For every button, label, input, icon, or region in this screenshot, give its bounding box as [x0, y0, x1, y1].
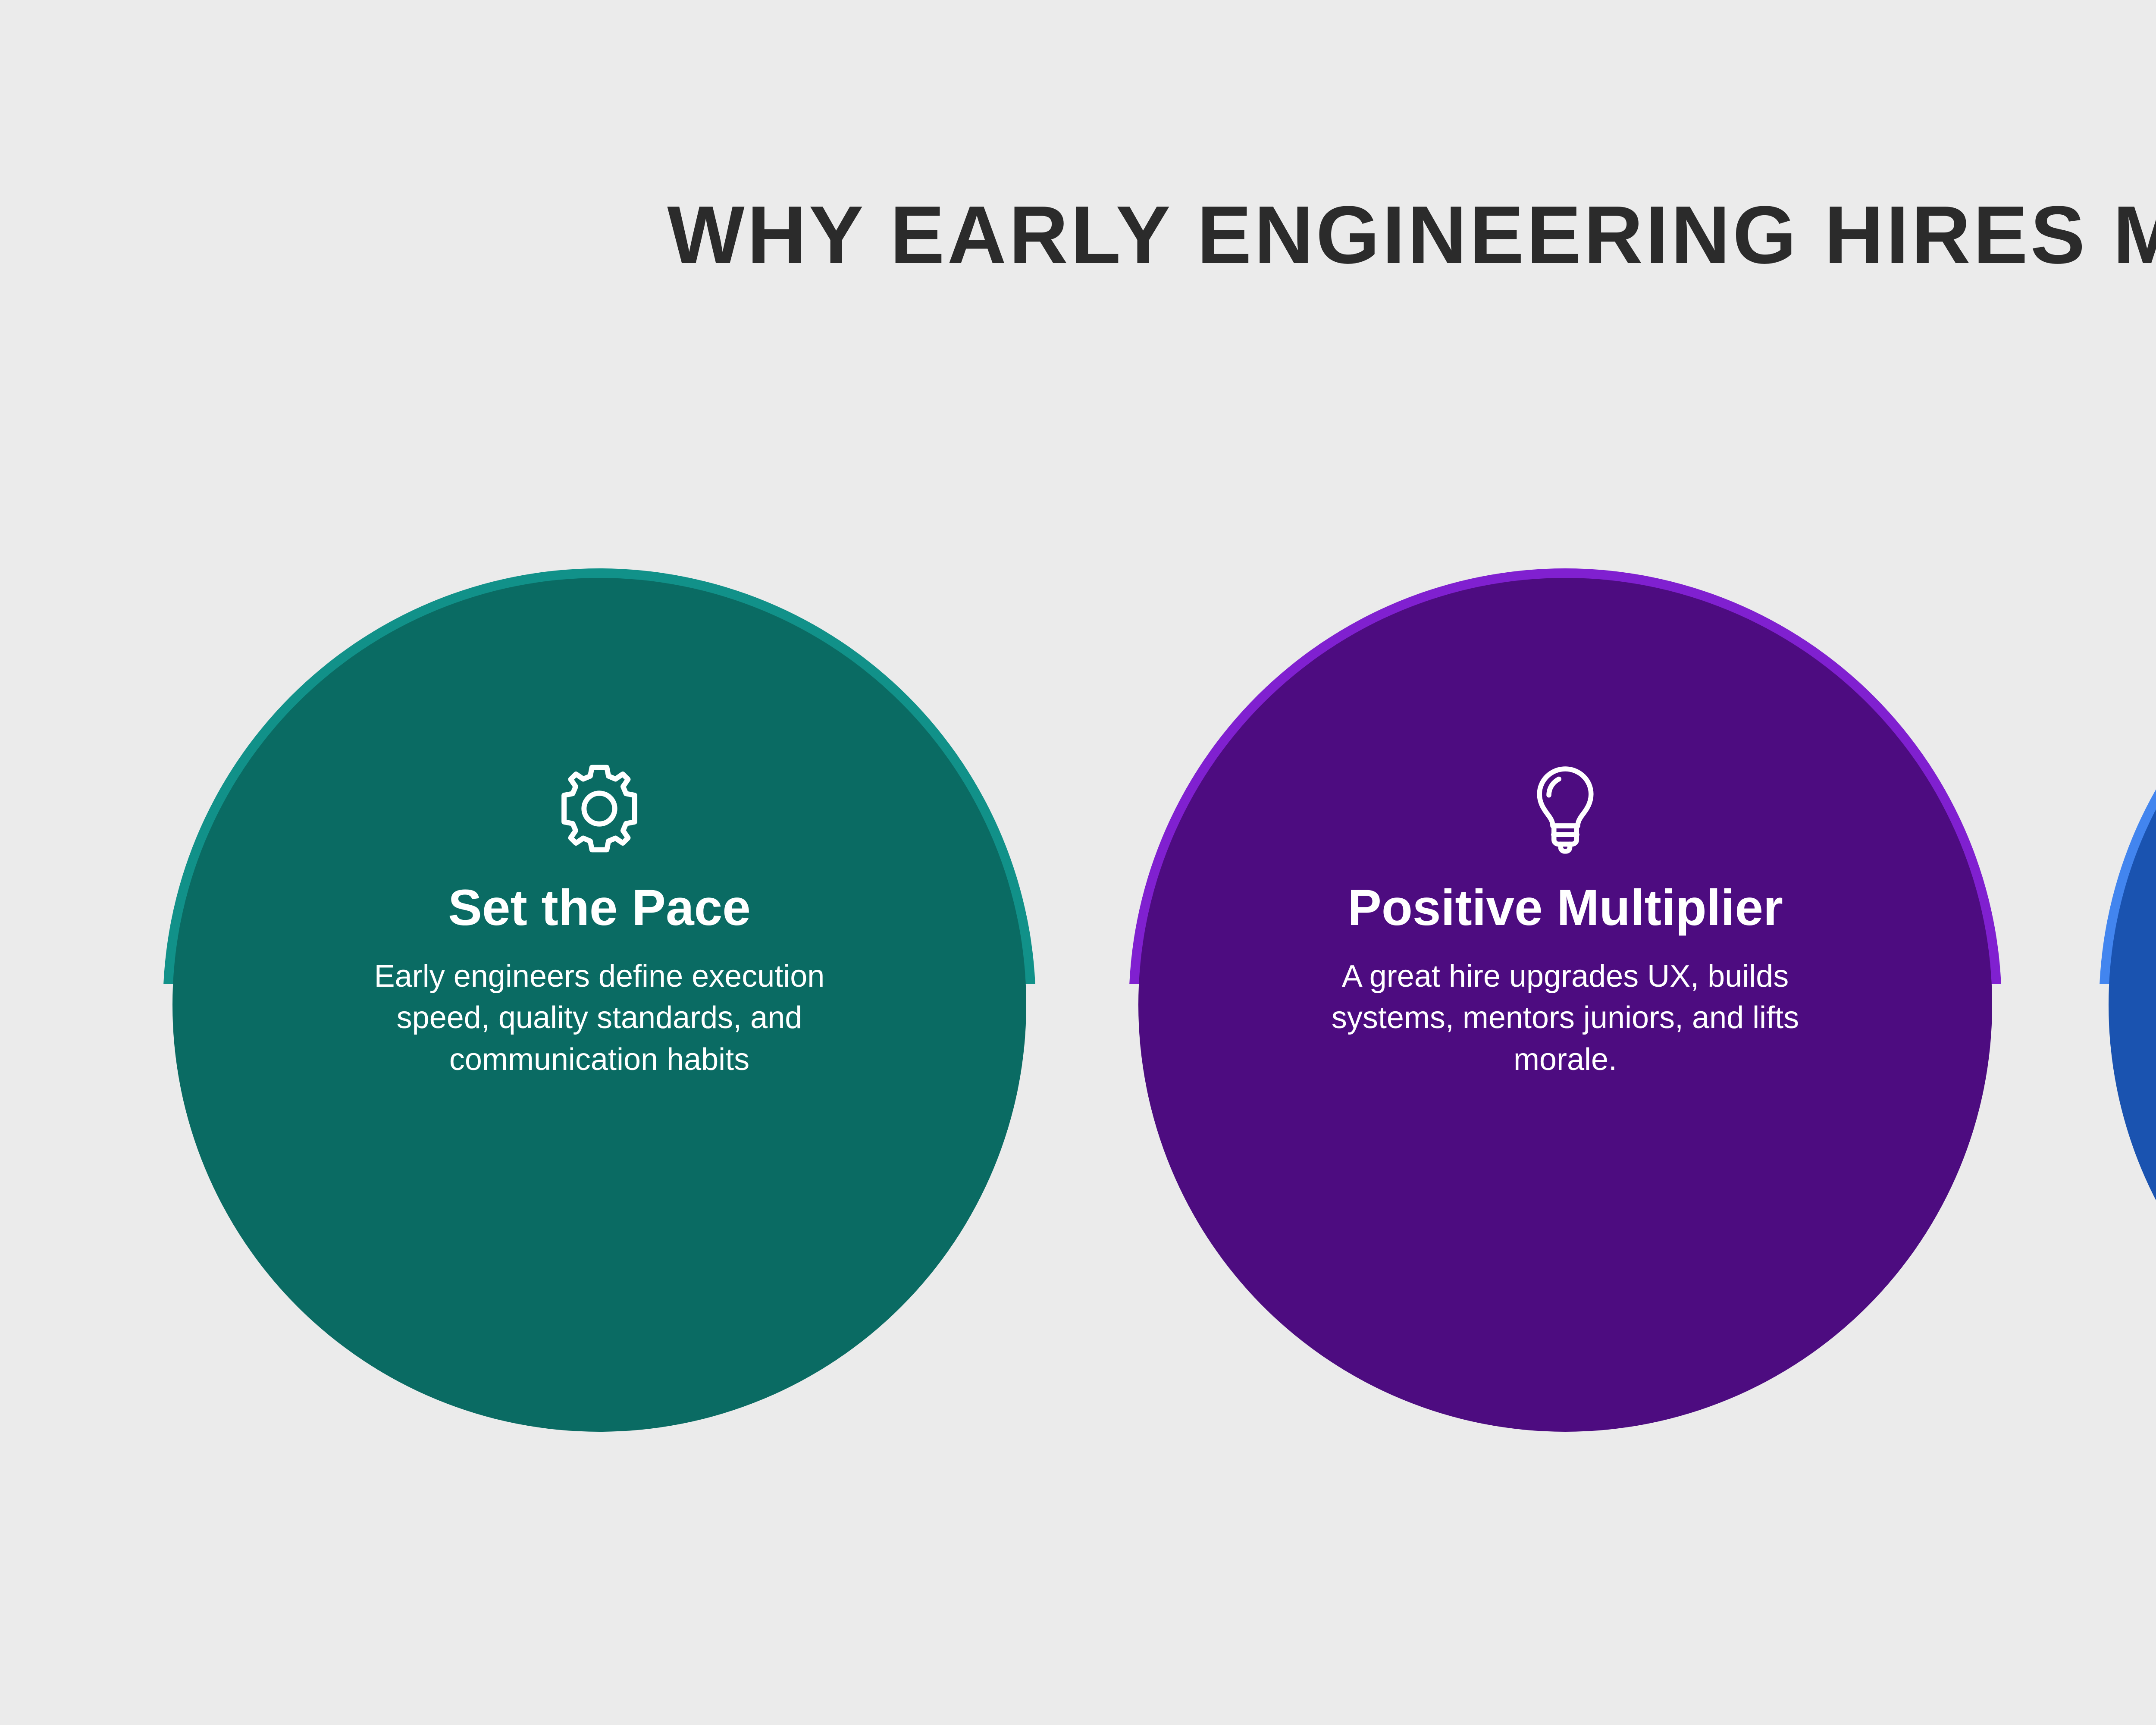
card-title: Set the Pace [448, 881, 751, 935]
card-content: Hidden Cost A poor fit slows delivery, c… [2109, 578, 2156, 1432]
infographic-poster: WHY EARLY ENGINEERING HIRES MATTER Set t… [0, 0, 2156, 1725]
lightbulb-icon [1516, 755, 1615, 862]
card-positive-multiplier[interactable]: Positive Multiplier A great hire upgrade… [1138, 578, 1992, 1432]
card-title: Positive Multiplier [1347, 881, 1783, 935]
card-set-the-pace[interactable]: Set the Pace Early engineers define exec… [172, 578, 1026, 1432]
cards-row: Set the Pace Early engineers define exec… [0, 578, 2156, 1466]
card-hidden-cost[interactable]: Hidden Cost A poor fit slows delivery, c… [2109, 578, 2156, 1432]
page-title: WHY EARLY ENGINEERING HIRES MATTER [0, 194, 2156, 276]
card-content: Set the Pace Early engineers define exec… [172, 578, 1026, 1432]
card-description: Early engineers define execution speed, … [345, 956, 854, 1080]
card-description: A great hire upgrades UX, builds systems… [1311, 956, 1820, 1080]
gear-icon [550, 755, 649, 862]
card-content: Positive Multiplier A great hire upgrade… [1138, 578, 1992, 1432]
